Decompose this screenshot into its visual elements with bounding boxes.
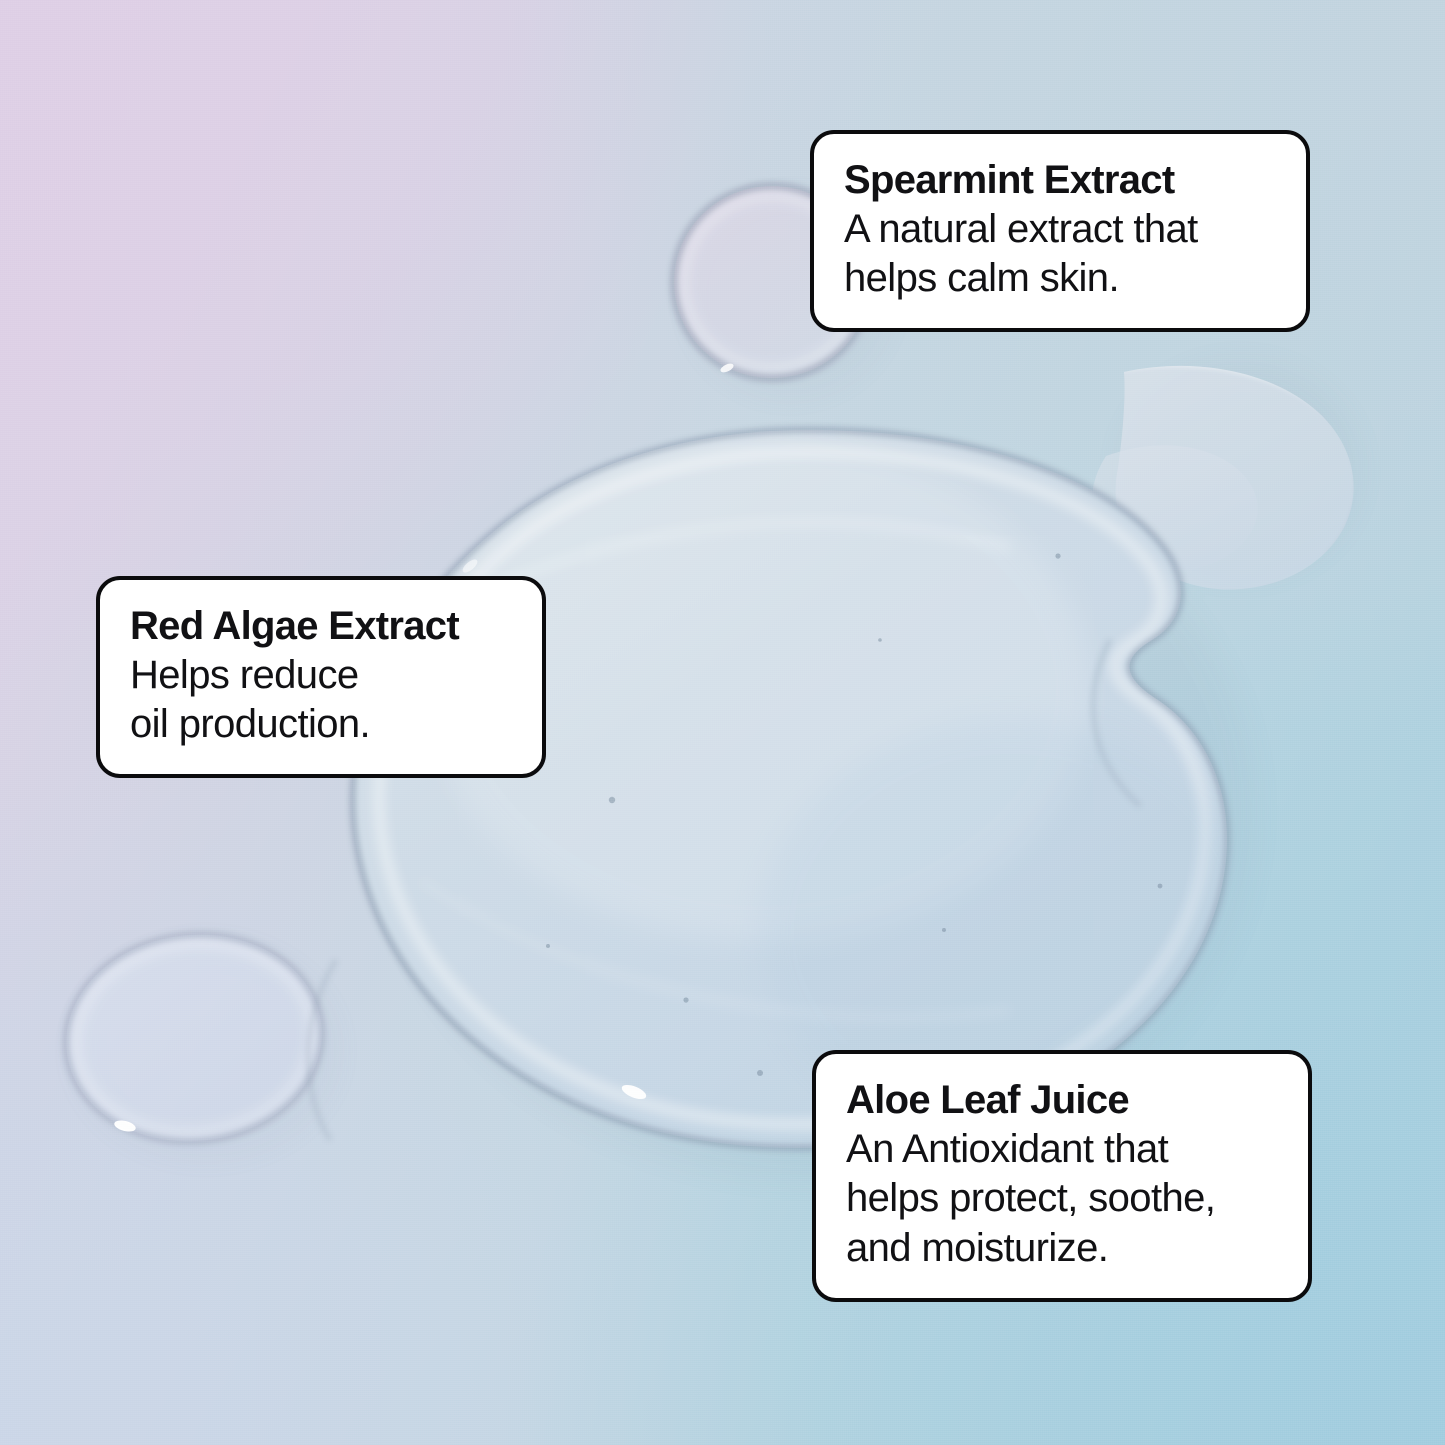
callout-aloe-body-line-1: An Antioxidant that (846, 1125, 1282, 1175)
callout-aloe-title: Aloe Leaf Juice (846, 1076, 1282, 1125)
callout-spearmint-body-line-2: helps calm skin. (844, 254, 1280, 304)
callout-spearmint-title: Spearmint Extract (844, 156, 1280, 205)
callout-red-algae-extract[interactable]: Red Algae Extract Helps reduce oil produ… (96, 576, 546, 778)
callout-red-algae-body: Helps reduce oil production. (130, 651, 516, 750)
callout-red-algae-body-line-1: Helps reduce (130, 651, 516, 701)
infographic-canvas: Spearmint Extract A natural extract that… (0, 0, 1445, 1445)
callout-aloe-body-line-2: helps protect, soothe, (846, 1174, 1282, 1224)
callout-aloe-body-line-3: and moisturize. (846, 1224, 1282, 1274)
callout-aloe-body: An Antioxidant that helps protect, sooth… (846, 1125, 1282, 1274)
callout-spearmint-body-line-1: A natural extract that (844, 205, 1280, 255)
callout-spearmint-body: A natural extract that helps calm skin. (844, 205, 1280, 304)
callout-red-algae-title: Red Algae Extract (130, 602, 516, 651)
callout-aloe-leaf-juice[interactable]: Aloe Leaf Juice An Antioxidant that help… (812, 1050, 1312, 1302)
callout-red-algae-body-line-2: oil production. (130, 700, 516, 750)
callout-spearmint-extract[interactable]: Spearmint Extract A natural extract that… (810, 130, 1310, 332)
